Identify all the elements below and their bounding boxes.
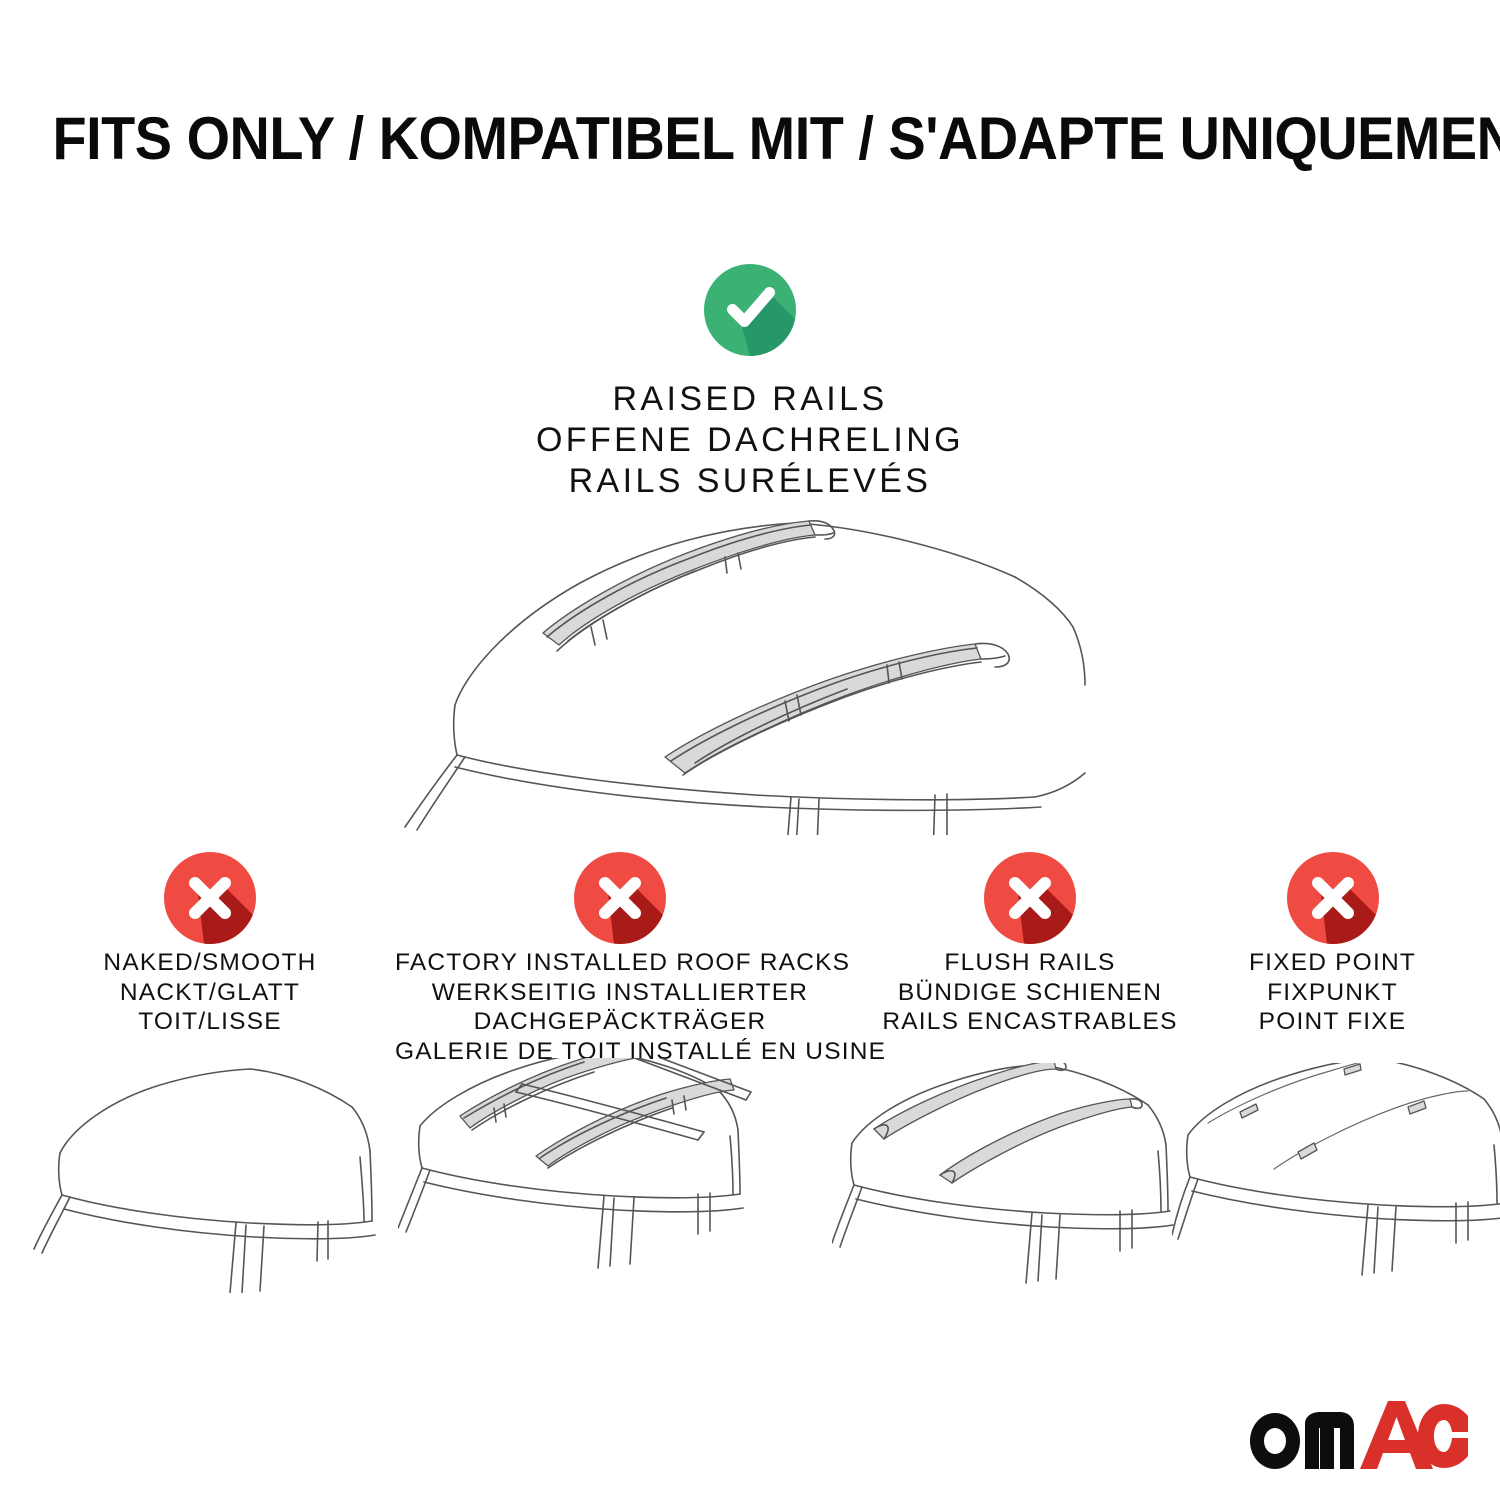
compatible-label-en: RAISED RAILS	[0, 379, 1500, 420]
omac-logo	[1248, 1400, 1468, 1470]
car-roof-factory-roof-racks-illustration	[398, 1058, 768, 1298]
compatible-label-de: OFFENE DACHRELING	[0, 420, 1500, 461]
car-roof-flush-rails-illustration	[832, 1063, 1202, 1298]
label-line: NAKED/SMOOTH	[40, 948, 380, 978]
incompatible-label-naked-smooth: NAKED/SMOOTH NACKT/GLATT TOIT/LISSE	[40, 948, 380, 1037]
page-title: FITS ONLY / KOMPATIBEL MIT / S'ADAPTE UN…	[53, 104, 1448, 173]
car-roof-naked-smooth-illustration	[30, 1063, 390, 1293]
cross-circle-icon	[1287, 852, 1379, 944]
car-roof-raised-rails-illustration	[395, 505, 1105, 835]
compatible-label-fr: RAILS SURÉLEVÉS	[0, 461, 1500, 502]
label-line: DACHGEPÄCKTRÄGER	[395, 1007, 845, 1037]
label-line: FIXED POINT	[1215, 948, 1450, 978]
cross-circle-icon	[164, 852, 256, 944]
car-roof-fixed-point-illustration	[1172, 1063, 1500, 1298]
label-line: FIXPUNKT	[1215, 978, 1450, 1008]
incompatible-label-flush-rails: FLUSH RAILS BÜNDIGE SCHIENEN RAILS ENCAS…	[855, 948, 1205, 1037]
label-line: NACKT/GLATT	[40, 978, 380, 1008]
label-line: FLUSH RAILS	[855, 948, 1205, 978]
label-line: WERKSEITIG INSTALLIERTER	[395, 978, 845, 1008]
cross-circle-icon	[574, 852, 666, 944]
incompatible-label-fixed-point: FIXED POINT FIXPUNKT POINT FIXE	[1215, 948, 1450, 1037]
label-line: POINT FIXE	[1215, 1007, 1450, 1037]
check-circle-icon	[704, 264, 796, 356]
incompatible-label-factory-roof-racks: FACTORY INSTALLED ROOF RACKS WERKSEITIG …	[395, 948, 845, 1066]
cross-circle-icon	[984, 852, 1076, 944]
label-line: RAILS ENCASTRABLES	[855, 1007, 1205, 1037]
label-line: TOIT/LISSE	[40, 1007, 380, 1037]
infographic-canvas: FITS ONLY / KOMPATIBEL MIT / S'ADAPTE UN…	[0, 0, 1500, 1500]
compatible-label: RAISED RAILS OFFENE DACHRELING RAILS SUR…	[0, 379, 1500, 502]
label-line: BÜNDIGE SCHIENEN	[855, 978, 1205, 1008]
label-line: FACTORY INSTALLED ROOF RACKS	[395, 948, 845, 978]
